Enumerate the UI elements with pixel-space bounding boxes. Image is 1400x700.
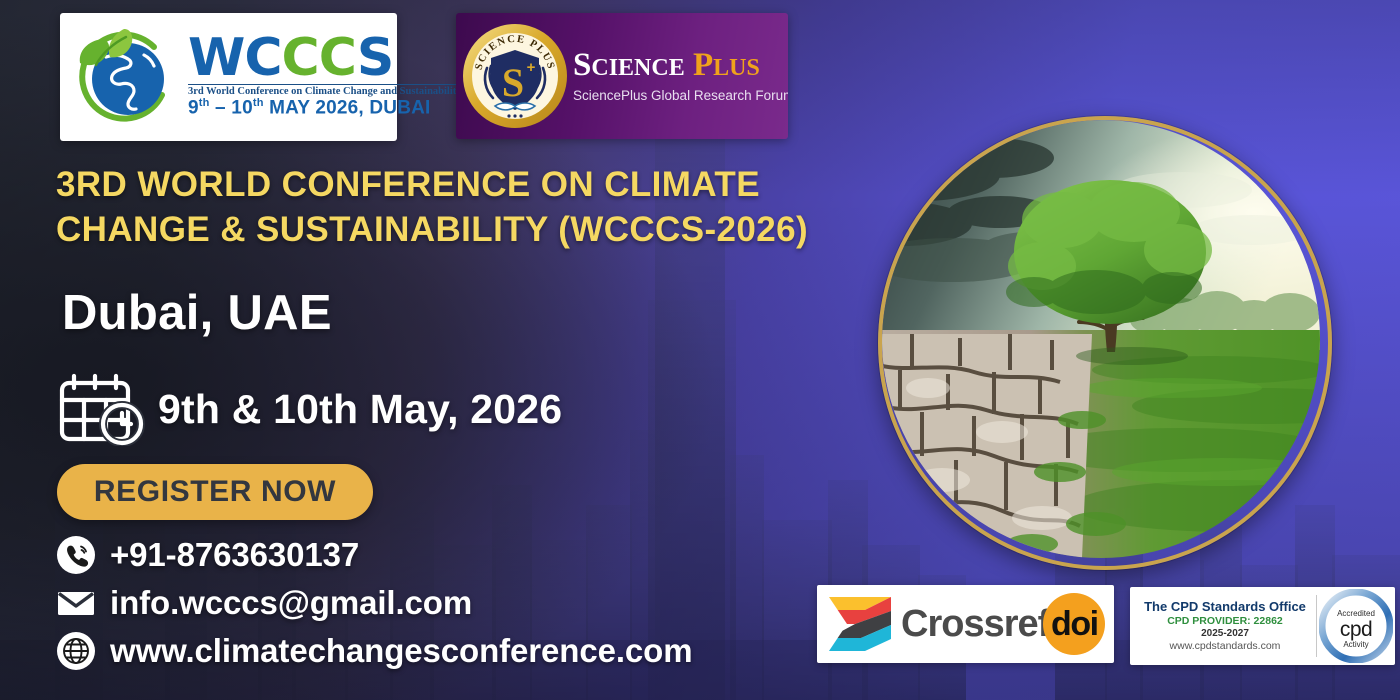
cpd-website: www.cpdstandards.com (1134, 640, 1316, 653)
svg-text:+: + (527, 59, 536, 76)
scienceplus-emblem-icon: SCIENCE PLUS S + (461, 22, 569, 130)
cpd-divider (1316, 595, 1317, 657)
cpd-badge-top-text: Accredited (1337, 609, 1375, 618)
doi-badge: doi (1043, 593, 1105, 655)
wcccs-logo: WCCCS 3rd World Conference on Climate Ch… (60, 13, 397, 141)
cpd-badge-bottom-text: Activity (1343, 640, 1368, 649)
location-text: Dubai, UAE (62, 285, 332, 341)
hero-climate-image (878, 116, 1332, 570)
cpd-validity-years: 2025-2027 (1134, 628, 1316, 641)
climate-split-landscape-illustration (882, 120, 1320, 558)
doi-label: doi (1051, 605, 1097, 644)
email-icon (56, 583, 96, 623)
contact-row-website[interactable]: www.climatechangesconference.com (56, 627, 692, 675)
contact-list: +91-8763630137 info.wcccs@gmail.com www.… (56, 531, 692, 675)
wcccs-logo-date: 9th – 10th MAY 2026, DUBAI (188, 97, 462, 119)
cpd-accredited-badge-icon: Accredited cpd Activity (1319, 589, 1393, 663)
title-line-1: 3RD WORLD CONFERENCE ON CLIMATE (56, 163, 916, 208)
crossref-wordmark: Crossref (901, 603, 1049, 646)
crossref-doi-logo: Crossref doi (817, 585, 1114, 663)
scienceplus-tagline: SciencePlus Global Research Forum (573, 88, 788, 103)
cpd-provider-number: CPD PROVIDER: 22862 (1134, 615, 1316, 628)
scienceplus-logo: SCIENCE PLUS S + SCIENCE PLUS SciencePlu… (456, 13, 788, 139)
wcccs-logo-subtitle: 3rd World Conference on Climate Change a… (188, 84, 462, 97)
cpd-office-name: The CPD Standards Office (1134, 599, 1316, 615)
wcccs-wordmark: WCCCS (188, 35, 462, 83)
svg-text:S: S (502, 60, 524, 105)
cpd-standards-logo: The CPD Standards Office CPD PROVIDER: 2… (1130, 587, 1395, 665)
conference-banner: WCCCS 3rd World Conference on Climate Ch… (0, 0, 1400, 700)
scienceplus-wordmark: SCIENCE PLUS (573, 49, 788, 82)
cpd-text-block: The CPD Standards Office CPD PROVIDER: 2… (1130, 599, 1316, 654)
phone-icon (56, 535, 96, 575)
register-now-label: REGISTER NOW (94, 475, 336, 509)
crossref-mark-icon (825, 595, 899, 653)
date-text: 9th & 10th May, 2026 (158, 386, 562, 433)
page-title: 3RD WORLD CONFERENCE ON CLIMATE CHANGE &… (56, 163, 916, 253)
title-line-2: CHANGE & SUSTAINABILITY (WCCCS-2026) (56, 208, 916, 253)
register-now-button[interactable]: REGISTER NOW (57, 464, 373, 520)
phone-number: +91-8763630137 (110, 536, 359, 574)
website-url: www.climatechangesconference.com (110, 632, 692, 670)
contact-row-phone[interactable]: +91-8763630137 (56, 531, 692, 579)
email-address: info.wcccs@gmail.com (110, 584, 472, 622)
globe-icon (56, 631, 96, 671)
date-line: 9th & 10th May, 2026 (58, 372, 562, 446)
wcccs-globe-leaf-icon (66, 21, 194, 133)
cpd-badge-main-text: cpd (1340, 618, 1372, 641)
calendar-clock-icon (58, 372, 150, 446)
contact-row-email[interactable]: info.wcccs@gmail.com (56, 579, 692, 627)
